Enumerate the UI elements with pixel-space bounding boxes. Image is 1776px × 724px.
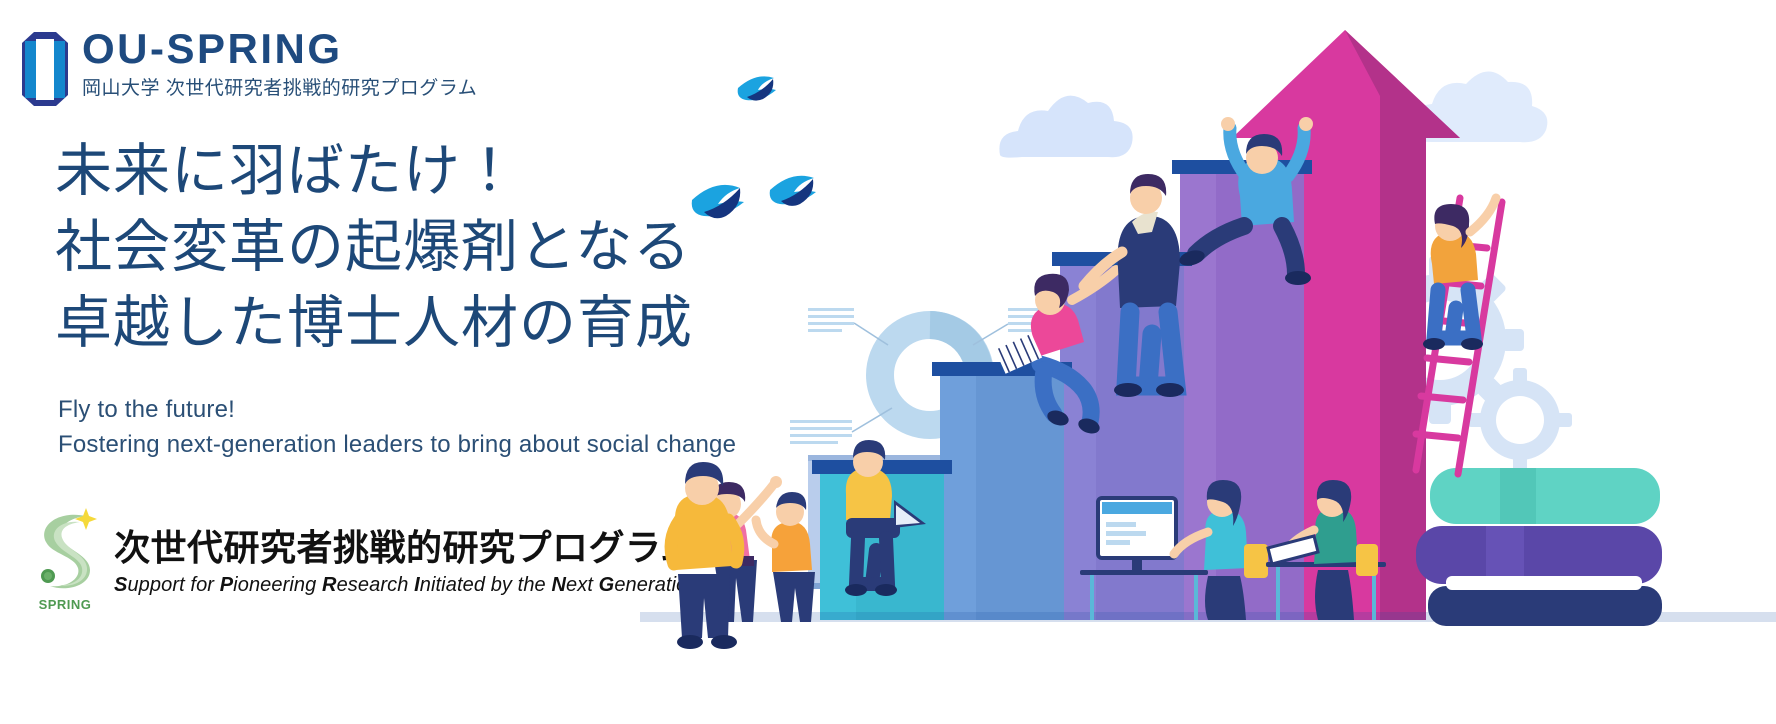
english-tagline: Fly to the future! Fostering next-genera… — [58, 392, 736, 463]
book-stack-purple — [1416, 526, 1662, 584]
book-stack-teal — [1430, 468, 1660, 524]
headline-line-1: 未来に羽ばたけ！ — [55, 134, 693, 210]
book-stack — [1416, 468, 1662, 626]
headline-line-2: 社会変革の起爆剤となる — [55, 210, 693, 286]
spring-swoosh-star-icon: SPRING — [28, 500, 102, 610]
book-stack-navy — [1428, 576, 1662, 626]
brand-text-block: OU-SPRING 岡山大学 次世代研究者挑戦的研究プログラム — [82, 28, 477, 100]
bird-large — [692, 185, 744, 218]
tagline-line-1: Fly to the future! — [58, 392, 736, 427]
spring-wordmark: SPRING — [28, 597, 102, 612]
bird-medium — [770, 176, 816, 206]
headline: 未来に羽ばたけ！ 社会変革の起爆剤となる 卓越した博士人材の育成 — [55, 134, 693, 361]
spring-english-full: Support for Pioneering Research Initiate… — [114, 574, 699, 596]
brand-subtitle: 岡山大学 次世代研究者挑戦的研究プログラム — [82, 79, 477, 100]
spring-english-subtitle: Support for Pioneering Research Initiate… — [114, 574, 699, 597]
spring-japanese-title: 次世代研究者挑戦的研究プログラム — [114, 527, 699, 568]
cloud-upper — [999, 96, 1132, 158]
spring-text-block: 次世代研究者挑戦的研究プログラム Support for Pioneering … — [114, 513, 699, 596]
okayama-university-logo-icon — [22, 32, 68, 106]
ou-spring-banner: OU-SPRING 岡山大学 次世代研究者挑戦的研究プログラム 未来に羽ばたけ！… — [0, 0, 1776, 724]
brand-title: OU-SPRING — [82, 28, 477, 70]
spring-program-lockup: SPRING 次世代研究者挑戦的研究プログラム Support for Pion… — [28, 500, 699, 610]
career-growth-staircase-illustration — [640, 0, 1776, 724]
person-orange-shirt-man — [756, 492, 815, 622]
brand-lockup: OU-SPRING 岡山大学 次世代研究者挑戦的研究プログラム — [22, 28, 477, 106]
tagline-line-2: Fostering next-generation leaders to bri… — [58, 427, 736, 462]
bird-small — [738, 76, 776, 100]
headline-line-3: 卓越した博士人材の育成 — [55, 286, 693, 362]
